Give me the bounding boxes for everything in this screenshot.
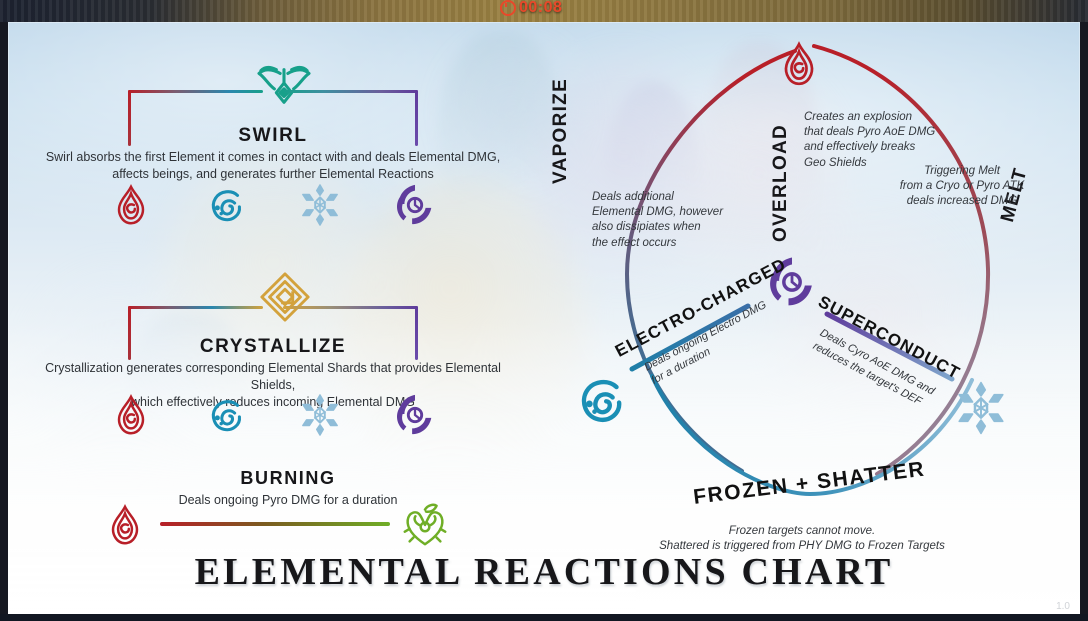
- hydro-icon: [570, 369, 632, 431]
- swirl-element-row: [108, 182, 438, 228]
- pyro-icon: [108, 182, 154, 228]
- clock-icon: [500, 0, 516, 16]
- left-letterbox: [0, 22, 8, 621]
- burning-connector: [160, 522, 390, 526]
- elemental-reactions-card: SWIRL Swirl absorbs the first Element it…: [8, 22, 1080, 614]
- dendro-icon: [400, 500, 450, 550]
- electro-icon: [392, 392, 438, 438]
- watermark: 1.0: [1056, 601, 1070, 612]
- crystallize-element-row: [108, 392, 438, 438]
- right-letterbox: [1080, 22, 1088, 621]
- burning-title: BURNING: [148, 468, 428, 489]
- cryo-icon: [297, 392, 343, 438]
- swirl-title: SWIRL: [8, 125, 538, 147]
- timer-value: 00:08: [519, 0, 562, 17]
- game-hud-strip: 00:08: [0, 0, 1088, 22]
- hydro-icon: [203, 182, 249, 228]
- pyro-icon: [102, 502, 148, 548]
- section-burning: BURNING Deals ongoing Pyro DMG for a dur…: [88, 462, 488, 552]
- vaporize-description: Deals additional Elemental DMG, however …: [592, 190, 742, 251]
- cryo-icon: [297, 182, 343, 228]
- section-crystallize: CRYSTALLIZE Crystallization generates co…: [8, 240, 538, 455]
- electro-icon: [392, 182, 438, 228]
- crystallize-title: CRYSTALLIZE: [8, 336, 538, 358]
- reaction-circle: VAPORIZE Deals additional Elemental DMG,…: [552, 24, 1052, 524]
- page-title: ELEMENTAL REACTIONS CHART: [8, 550, 1080, 594]
- melt-description: Triggering Melt from a Cryo or Pyro ATK …: [882, 164, 1042, 210]
- pyro-icon: [108, 392, 154, 438]
- bottom-letterbox: [0, 614, 1088, 621]
- hydro-icon: [203, 392, 249, 438]
- swirl-description: Swirl absorbs the first Element it comes…: [38, 149, 508, 183]
- overload-description: Creates an explosion that deals Pyro AoE…: [804, 110, 964, 171]
- match-timer: 00:08: [500, 0, 562, 17]
- screenshot-root: 00:08: [0, 0, 1088, 621]
- overload-title: OVERLOAD: [770, 124, 792, 242]
- section-swirl: SWIRL Swirl absorbs the first Element it…: [8, 22, 538, 237]
- pyro-icon: [774, 39, 824, 89]
- vaporize-title: VAPORIZE: [550, 78, 572, 184]
